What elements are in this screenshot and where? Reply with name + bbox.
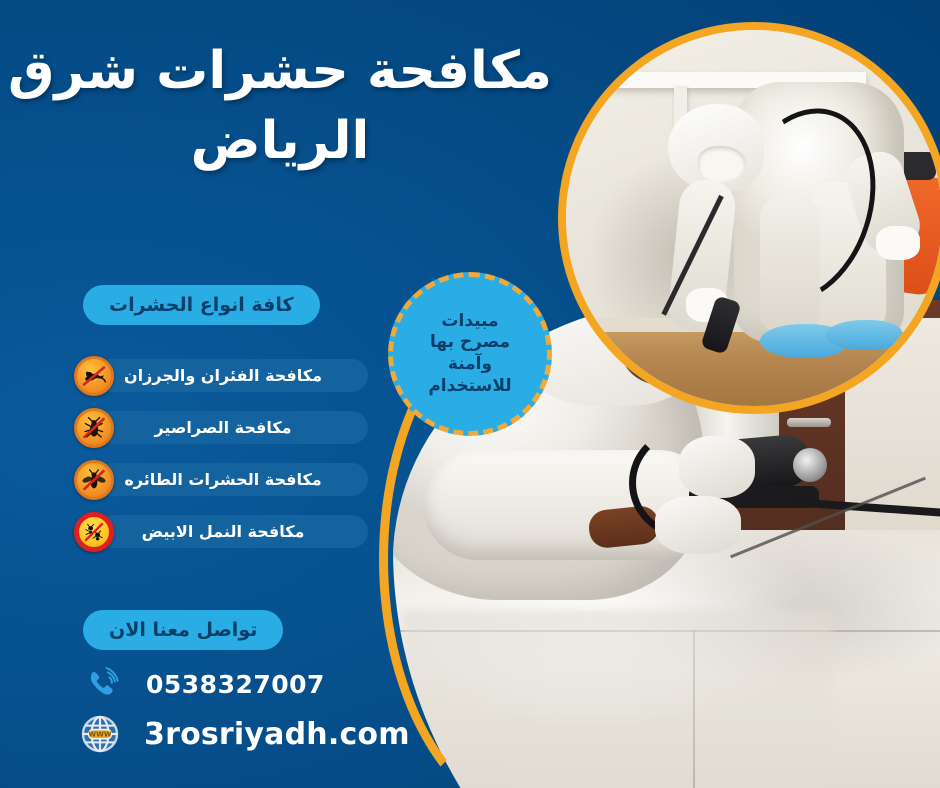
globe-www-icon[interactable]: WWW [78,712,122,756]
service-label: مكافحة الصراصير [154,418,291,437]
website-url: 3rosriyadh.com [144,717,410,752]
service-label: مكافحة الحشرات الطائره [124,470,321,489]
phone-ringing-icon[interactable] [80,662,124,706]
list-item[interactable]: مكافحة الحشرات الطائره [78,460,368,498]
safety-badge-line: للاستخدام [428,376,511,398]
door-handle [787,418,831,427]
safety-badge-line: مصرح بها [428,332,511,354]
fogger-nozzle [793,448,827,482]
list-item[interactable]: مكافحة النمل الابيض [78,512,368,550]
service-pill[interactable]: مكافحة الصراصير [96,411,368,444]
rodent-icon [74,356,114,396]
list-item[interactable]: مكافحة الصراصير [78,408,368,446]
pest-control-poster: مكافحة حشرات شرق الرياض مبيدات مصرح بها … [0,0,940,788]
cockroach-icon [74,408,114,448]
contact-section-title: تواصل معنا الان [83,610,283,650]
service-label: مكافحة الفئران والجرزان [124,366,322,385]
services-list: مكافحة الفئران والجرزان مكافحة الصراصير [78,356,368,564]
safety-badge-line: وآمنة [428,354,511,376]
service-pill[interactable]: مكافحة الفئران والجرزان [96,359,368,392]
services-section-title: كافة انواع الحشرات [83,285,320,325]
contact-phone-row[interactable]: 0538327007 [80,662,325,706]
flying-insect-icon [74,460,114,500]
svg-text:WWW: WWW [88,730,111,738]
ant-icon [74,512,114,552]
safety-badge-line: مبيدات [428,311,511,333]
blue-shoe-cover [826,320,902,350]
phone-number: 0538327007 [146,670,325,699]
safety-badge: مبيدات مصرح بها وآمنة للاستخدام [388,272,552,436]
contact-website-row[interactable]: 3rosriyadh.com WWW [78,712,410,756]
technician-glove [876,226,920,260]
service-pill[interactable]: مكافحة الحشرات الطائره [96,463,368,496]
safety-badge-text: مبيدات مصرح بها وآمنة للاستخدام [422,311,517,398]
circle-photo [558,22,940,414]
service-label: مكافحة النمل الابيض [142,522,305,541]
service-pill[interactable]: مكافحة النمل الابيض [96,515,368,548]
page-title: مكافحة حشرات شرق الرياض [0,36,560,176]
list-item[interactable]: مكافحة الفئران والجرزان [78,356,368,394]
